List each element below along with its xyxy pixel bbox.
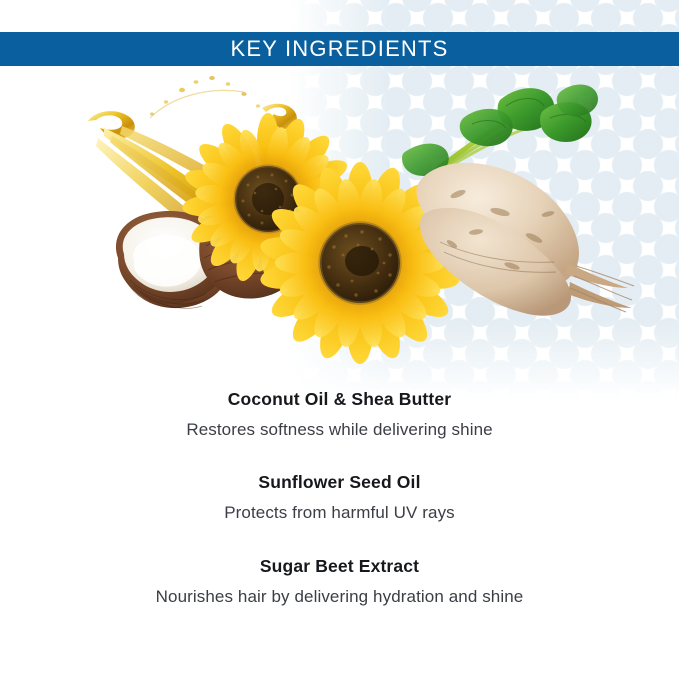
ingredient-item: Sugar Beet Extract Nourishes hair by del… — [0, 553, 679, 610]
banner-title: KEY INGREDIENTS — [230, 38, 448, 60]
ingredient-item: Sunflower Seed Oil Protects from harmful… — [0, 469, 679, 526]
key-ingredients-banner: KEY INGREDIENTS — [0, 32, 679, 66]
ingredient-name: Coconut Oil & Shea Butter — [0, 386, 679, 413]
ingredient-description: Restores softness while delivering shine — [0, 416, 679, 443]
ingredient-description: Nourishes hair by delivering hydration a… — [0, 583, 679, 610]
hero-illustration — [0, 66, 679, 366]
ingredient-item: Coconut Oil & Shea Butter Restores softn… — [0, 386, 679, 443]
ingredient-name: Sugar Beet Extract — [0, 553, 679, 580]
key-ingredients-panel: KEY INGREDIENTS — [0, 0, 679, 679]
ingredients-hero-image — [0, 66, 679, 366]
ingredient-name: Sunflower Seed Oil — [0, 469, 679, 496]
ingredients-list: Coconut Oil & Shea Butter Restores softn… — [0, 386, 679, 610]
ingredient-description: Protects from harmful UV rays — [0, 499, 679, 526]
